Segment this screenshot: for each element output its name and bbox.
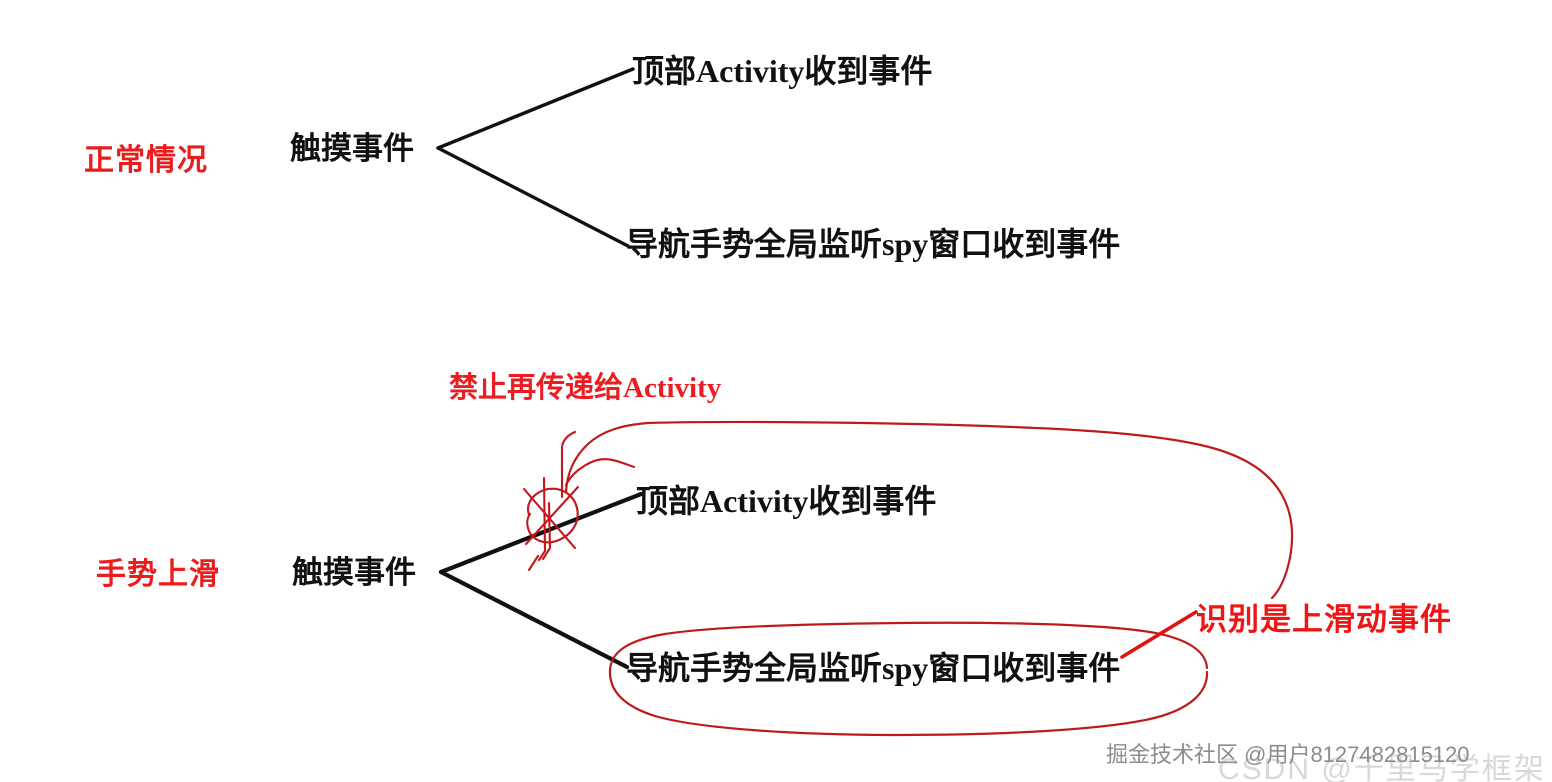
watermark-primary: 掘金技术社区 @用户8127482815120: [1106, 737, 1470, 769]
leaf-normal-activity-cjk2: 收到事件: [804, 53, 932, 89]
cross-out-icon: [524, 478, 578, 570]
cross-out-circle-stroke: [527, 489, 578, 543]
leaf-normal-spy-latin: spy: [882, 226, 928, 262]
swipe-branch-upper-line: [441, 494, 641, 572]
leaf-normal-spy-cjk2: 窗口收到事件: [928, 226, 1120, 262]
leaf-swipe-spy-cjk1: 导航手势全局监听: [626, 650, 882, 686]
leaf-swipe-activity-cjk1: 顶部: [636, 483, 700, 519]
section-label-normal: 正常情况: [84, 146, 208, 176]
leaf-normal-spy-cjk1: 导航手势全局监听: [626, 226, 882, 262]
recognize-arrow-line: [1122, 612, 1196, 657]
forbid-pointer-icon: [562, 432, 634, 497]
normal-branch-upper-line: [438, 69, 633, 148]
normal-fork-lines: [438, 69, 633, 246]
annotation-forbid-latin: Activity: [623, 372, 721, 404]
cross-out-stroke-d: [543, 503, 550, 559]
leaf-swipe-spy: 导航手势全局监听spy窗口收到事件: [626, 652, 1120, 684]
leaf-normal-activity-latin: Activity: [696, 53, 804, 89]
normal-branch-lower-line: [438, 148, 628, 246]
annotation-forbid-dispatch: 禁止再传递给Activity: [449, 374, 721, 403]
cross-out-stroke-a: [524, 489, 575, 548]
node-touch-event-normal: 触摸事件: [290, 133, 414, 164]
leaf-normal-activity-cjk1: 顶部: [632, 53, 696, 89]
annotation-forbid-cjk: 禁止再传递给: [449, 372, 623, 404]
recognize-arrow-icon: [1122, 612, 1196, 657]
node-touch-event-swipe: 触摸事件: [292, 557, 416, 588]
swipe-branch-lower-line: [441, 572, 627, 667]
leaf-swipe-activity-cjk2: 收到事件: [808, 483, 936, 519]
leaf-swipe-spy-latin: spy: [882, 650, 928, 686]
leaf-swipe-activity-latin: Activity: [700, 483, 808, 519]
leaf-swipe-spy-cjk2: 窗口收到事件: [928, 650, 1120, 686]
section-label-swipe-up: 手势上滑: [96, 560, 220, 590]
cross-out-stroke-b: [526, 487, 578, 544]
leaf-swipe-activity: 顶部Activity收到事件: [636, 485, 936, 517]
forbid-pointer-stroke-1: [562, 432, 575, 497]
swipe-fork-lines: [441, 494, 641, 667]
leaf-normal-activity: 顶部Activity收到事件: [632, 55, 932, 87]
cross-out-stroke-c: [539, 478, 545, 560]
forbid-pointer-stroke-2: [566, 459, 634, 485]
annotation-recognize-swipe-up: 识别是上滑动事件: [1196, 604, 1452, 635]
diagram-canvas: 正常情况 触摸事件 顶部Activity收到事件 导航手势全局监听spy窗口收到…: [0, 0, 1552, 782]
leaf-normal-spy: 导航手势全局监听spy窗口收到事件: [626, 228, 1120, 260]
cross-out-stroke-e: [529, 556, 538, 570]
